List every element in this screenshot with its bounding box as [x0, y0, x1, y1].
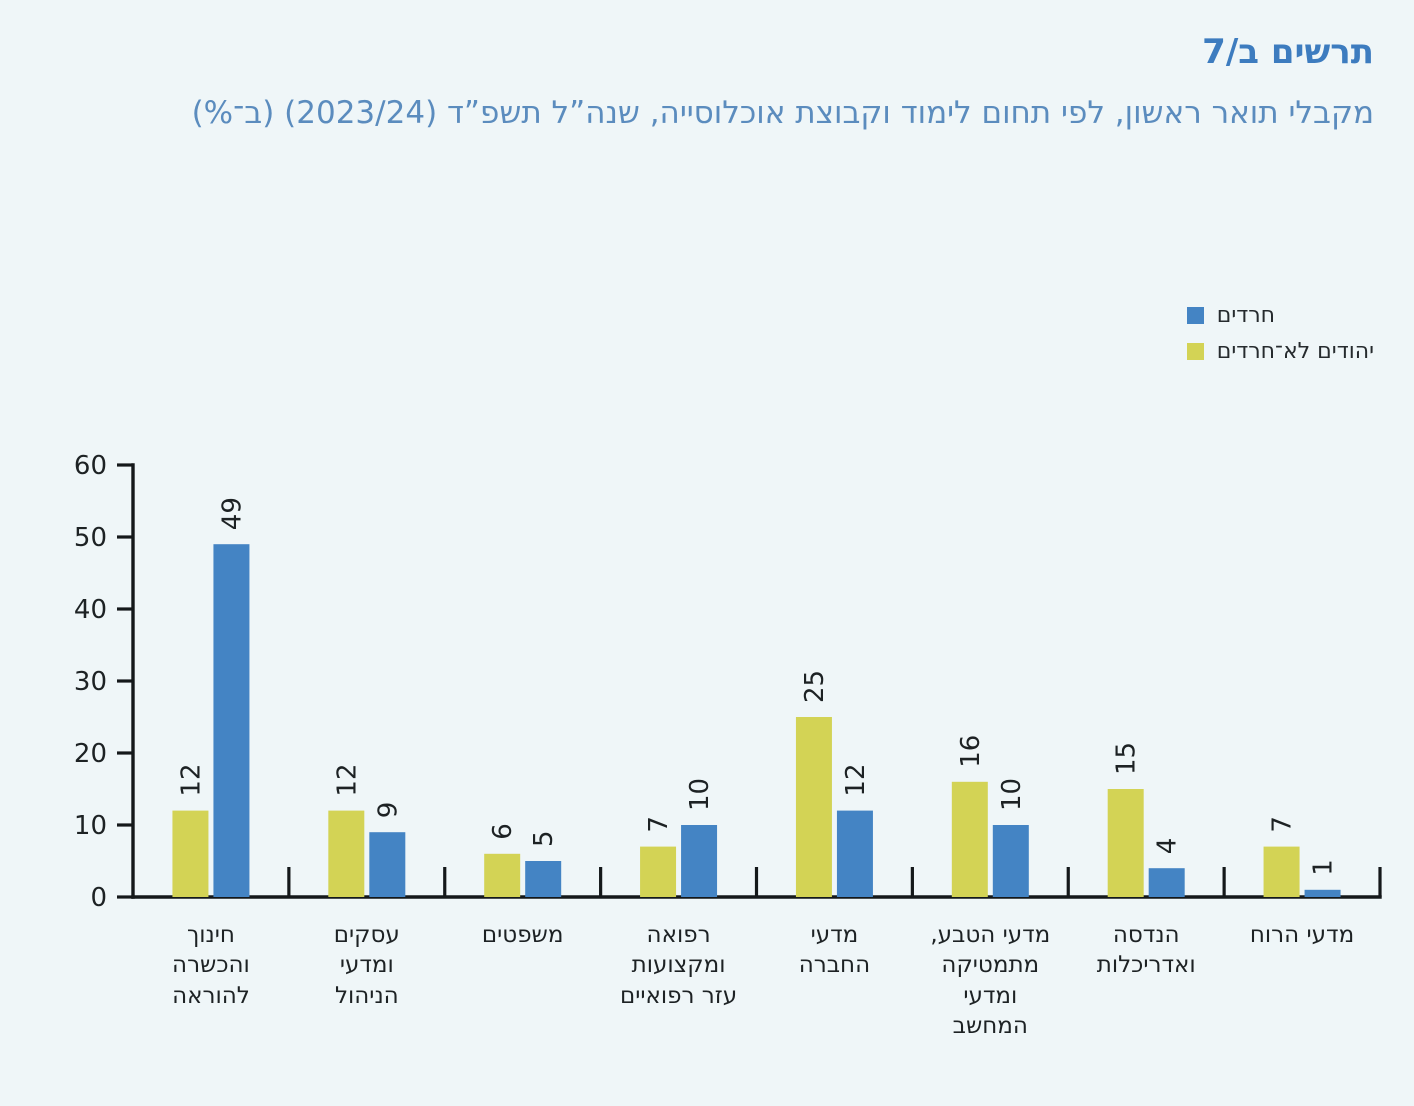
legend-swatch-icon	[1187, 307, 1204, 324]
bar-value-label: 16	[956, 735, 986, 768]
bar[interactable]	[213, 544, 249, 897]
x-axis-category-label: רפואה ומקצועות עזר רפואיים	[617, 920, 741, 1011]
x-axis-category-label: מדעי החברה	[772, 920, 896, 981]
bar-value-label: 9	[373, 802, 403, 819]
y-axis-tick-label: 30	[74, 667, 107, 697]
bar[interactable]	[328, 811, 364, 897]
y-axis-tick-label: 60	[74, 451, 107, 481]
bar[interactable]	[369, 832, 405, 897]
bar-value-label: 1	[1309, 859, 1339, 876]
x-axis-category-label: מדעי הטבע, מתמטיקה ומדעי המחשב	[928, 920, 1052, 1041]
chart-subtitle: מקבלי תואר ראשון, לפי תחום לימוד וקבוצת …	[0, 91, 1414, 135]
y-axis-tick-label: 10	[74, 811, 107, 841]
bar[interactable]	[993, 825, 1029, 897]
x-axis-category-labels: חינוך והכשרה להוראהעסקים ומדעי הניהולמשפ…	[133, 920, 1380, 1106]
bar[interactable]	[681, 825, 717, 897]
bar-value-label: 7	[644, 816, 674, 833]
y-axis-tick-label: 50	[74, 523, 107, 553]
y-axis-tick-label: 0	[90, 883, 107, 913]
x-axis-category-label: מדעי הרוח	[1240, 920, 1364, 950]
bar[interactable]	[525, 861, 561, 897]
bar-value-label: 12	[332, 764, 362, 797]
chart-header: תרשים ב/7 מקבלי תואר ראשון, לפי תחום לימ…	[0, 0, 1414, 135]
page-title: תרשים ב/7	[0, 32, 1414, 73]
bar[interactable]	[484, 854, 520, 897]
bar-value-label: 12	[841, 764, 871, 797]
y-axis-tick-label: 40	[74, 595, 107, 625]
bar[interactable]	[796, 717, 832, 897]
chart-legend: חרדים יהודים לא־חרדים	[1187, 303, 1374, 364]
bar[interactable]	[1149, 868, 1185, 897]
bar[interactable]	[640, 847, 676, 897]
bar[interactable]	[1305, 890, 1341, 897]
bar-value-label: 6	[488, 823, 518, 840]
bar-value-label: 10	[997, 778, 1027, 811]
bar-value-label: 10	[685, 778, 715, 811]
bar[interactable]	[952, 782, 988, 897]
bar-value-label: 49	[217, 497, 247, 530]
x-axis-category-label: הנדסה ואדריכלות	[1084, 920, 1208, 981]
bar[interactable]	[172, 811, 208, 897]
legend-item-label: חרדים	[1217, 303, 1275, 328]
legend-item-haredim[interactable]: חרדים	[1187, 303, 1275, 328]
bar-value-label: 7	[1268, 816, 1298, 833]
bar-value-label: 25	[800, 670, 830, 703]
bar-value-label: 12	[176, 764, 206, 797]
y-axis-tick-label: 20	[74, 739, 107, 769]
x-axis-category-label: משפטים	[461, 920, 585, 950]
legend-item-label: יהודים לא־חרדים	[1217, 339, 1374, 364]
x-axis-category-label: עסקים ומדעי הניהול	[305, 920, 429, 1011]
bar[interactable]	[1108, 789, 1144, 897]
bar[interactable]	[837, 811, 873, 897]
bar-value-label: 5	[529, 830, 559, 847]
bar-value-label: 15	[1112, 742, 1142, 775]
legend-swatch-icon	[1187, 343, 1204, 360]
bar-value-label: 4	[1153, 838, 1183, 855]
bar[interactable]	[1264, 847, 1300, 897]
legend-item-non-haredi-jews[interactable]: יהודים לא־חרדים	[1187, 339, 1374, 364]
x-axis-category-label: חינוך והכשרה להוראה	[149, 920, 273, 1011]
